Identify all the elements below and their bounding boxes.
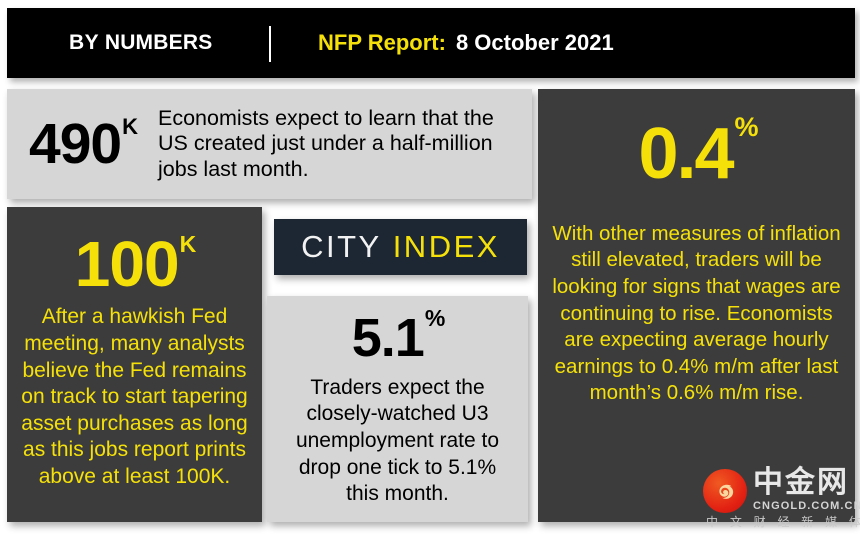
stat-card-fed: 100K After a hawkish Fed meeting, many a… [7, 207, 262, 522]
stat-unit-fed: K [180, 231, 196, 257]
stat-description-earnings: With other measures of inflation still e… [552, 221, 841, 407]
city-index-logo: CITYINDEX [274, 219, 527, 275]
stat-card-earnings: 0.4% With other measures of inflation st… [538, 89, 855, 522]
stat-number-unemployment: 5.1 [352, 308, 424, 368]
logo-word-index: INDEX [393, 229, 500, 265]
page-title-prefix: BY [69, 31, 105, 54]
watermark-url: CNGOLD.COM.CN [753, 500, 860, 512]
stat-description-jobs: Economists expect to learn that the US c… [158, 106, 518, 181]
header-divider [269, 26, 271, 62]
swirl-icon [711, 479, 739, 507]
stat-unit-jobs: K [122, 114, 137, 139]
stat-unit-earnings: % [735, 112, 757, 142]
stat-description-unemployment: Traders expect the closely-watched U3 un… [281, 375, 514, 508]
infographic-canvas: BY NUMBERS NFP Report:8 October 2021 490… [0, 0, 860, 534]
stat-value-unemployment: 5.1% [281, 310, 514, 367]
stat-value-jobs: 490K [29, 116, 136, 173]
report-date: 8 October 2021 [456, 30, 614, 55]
watermark-name: 中金网 [753, 467, 849, 499]
stat-value-earnings: 0.4% [552, 117, 841, 193]
stat-number-earnings: 0.4 [638, 114, 732, 194]
stat-number-fed: 100 [75, 228, 179, 300]
stat-description-fed: After a hawkish Fed meeting, many analys… [19, 304, 250, 491]
cngold-watermark: 中金网 CNGOLD.COM.CN 中 文 财 经 新 媒 体 [703, 467, 853, 525]
report-label: NFP Report: [318, 30, 446, 55]
header-bar: BY NUMBERS NFP Report:8 October 2021 [7, 8, 855, 78]
stat-card-unemployment: 5.1% Traders expect the closely-watched … [267, 296, 528, 522]
page-title-main: NUMBERS [105, 31, 213, 54]
report-heading: NFP Report:8 October 2021 [318, 30, 614, 56]
logo-word-city: CITY [301, 229, 382, 265]
stat-value-fed: 100K [19, 231, 250, 298]
cngold-logo-icon [703, 469, 747, 513]
stat-number-jobs: 490 [29, 112, 121, 176]
stat-card-jobs: 490K Economists expect to learn that the… [7, 89, 532, 199]
stat-unit-unemployment: % [425, 305, 444, 331]
watermark-tagline: 中 文 财 经 新 媒 体 [706, 513, 860, 530]
page-title: BY NUMBERS [69, 31, 212, 55]
